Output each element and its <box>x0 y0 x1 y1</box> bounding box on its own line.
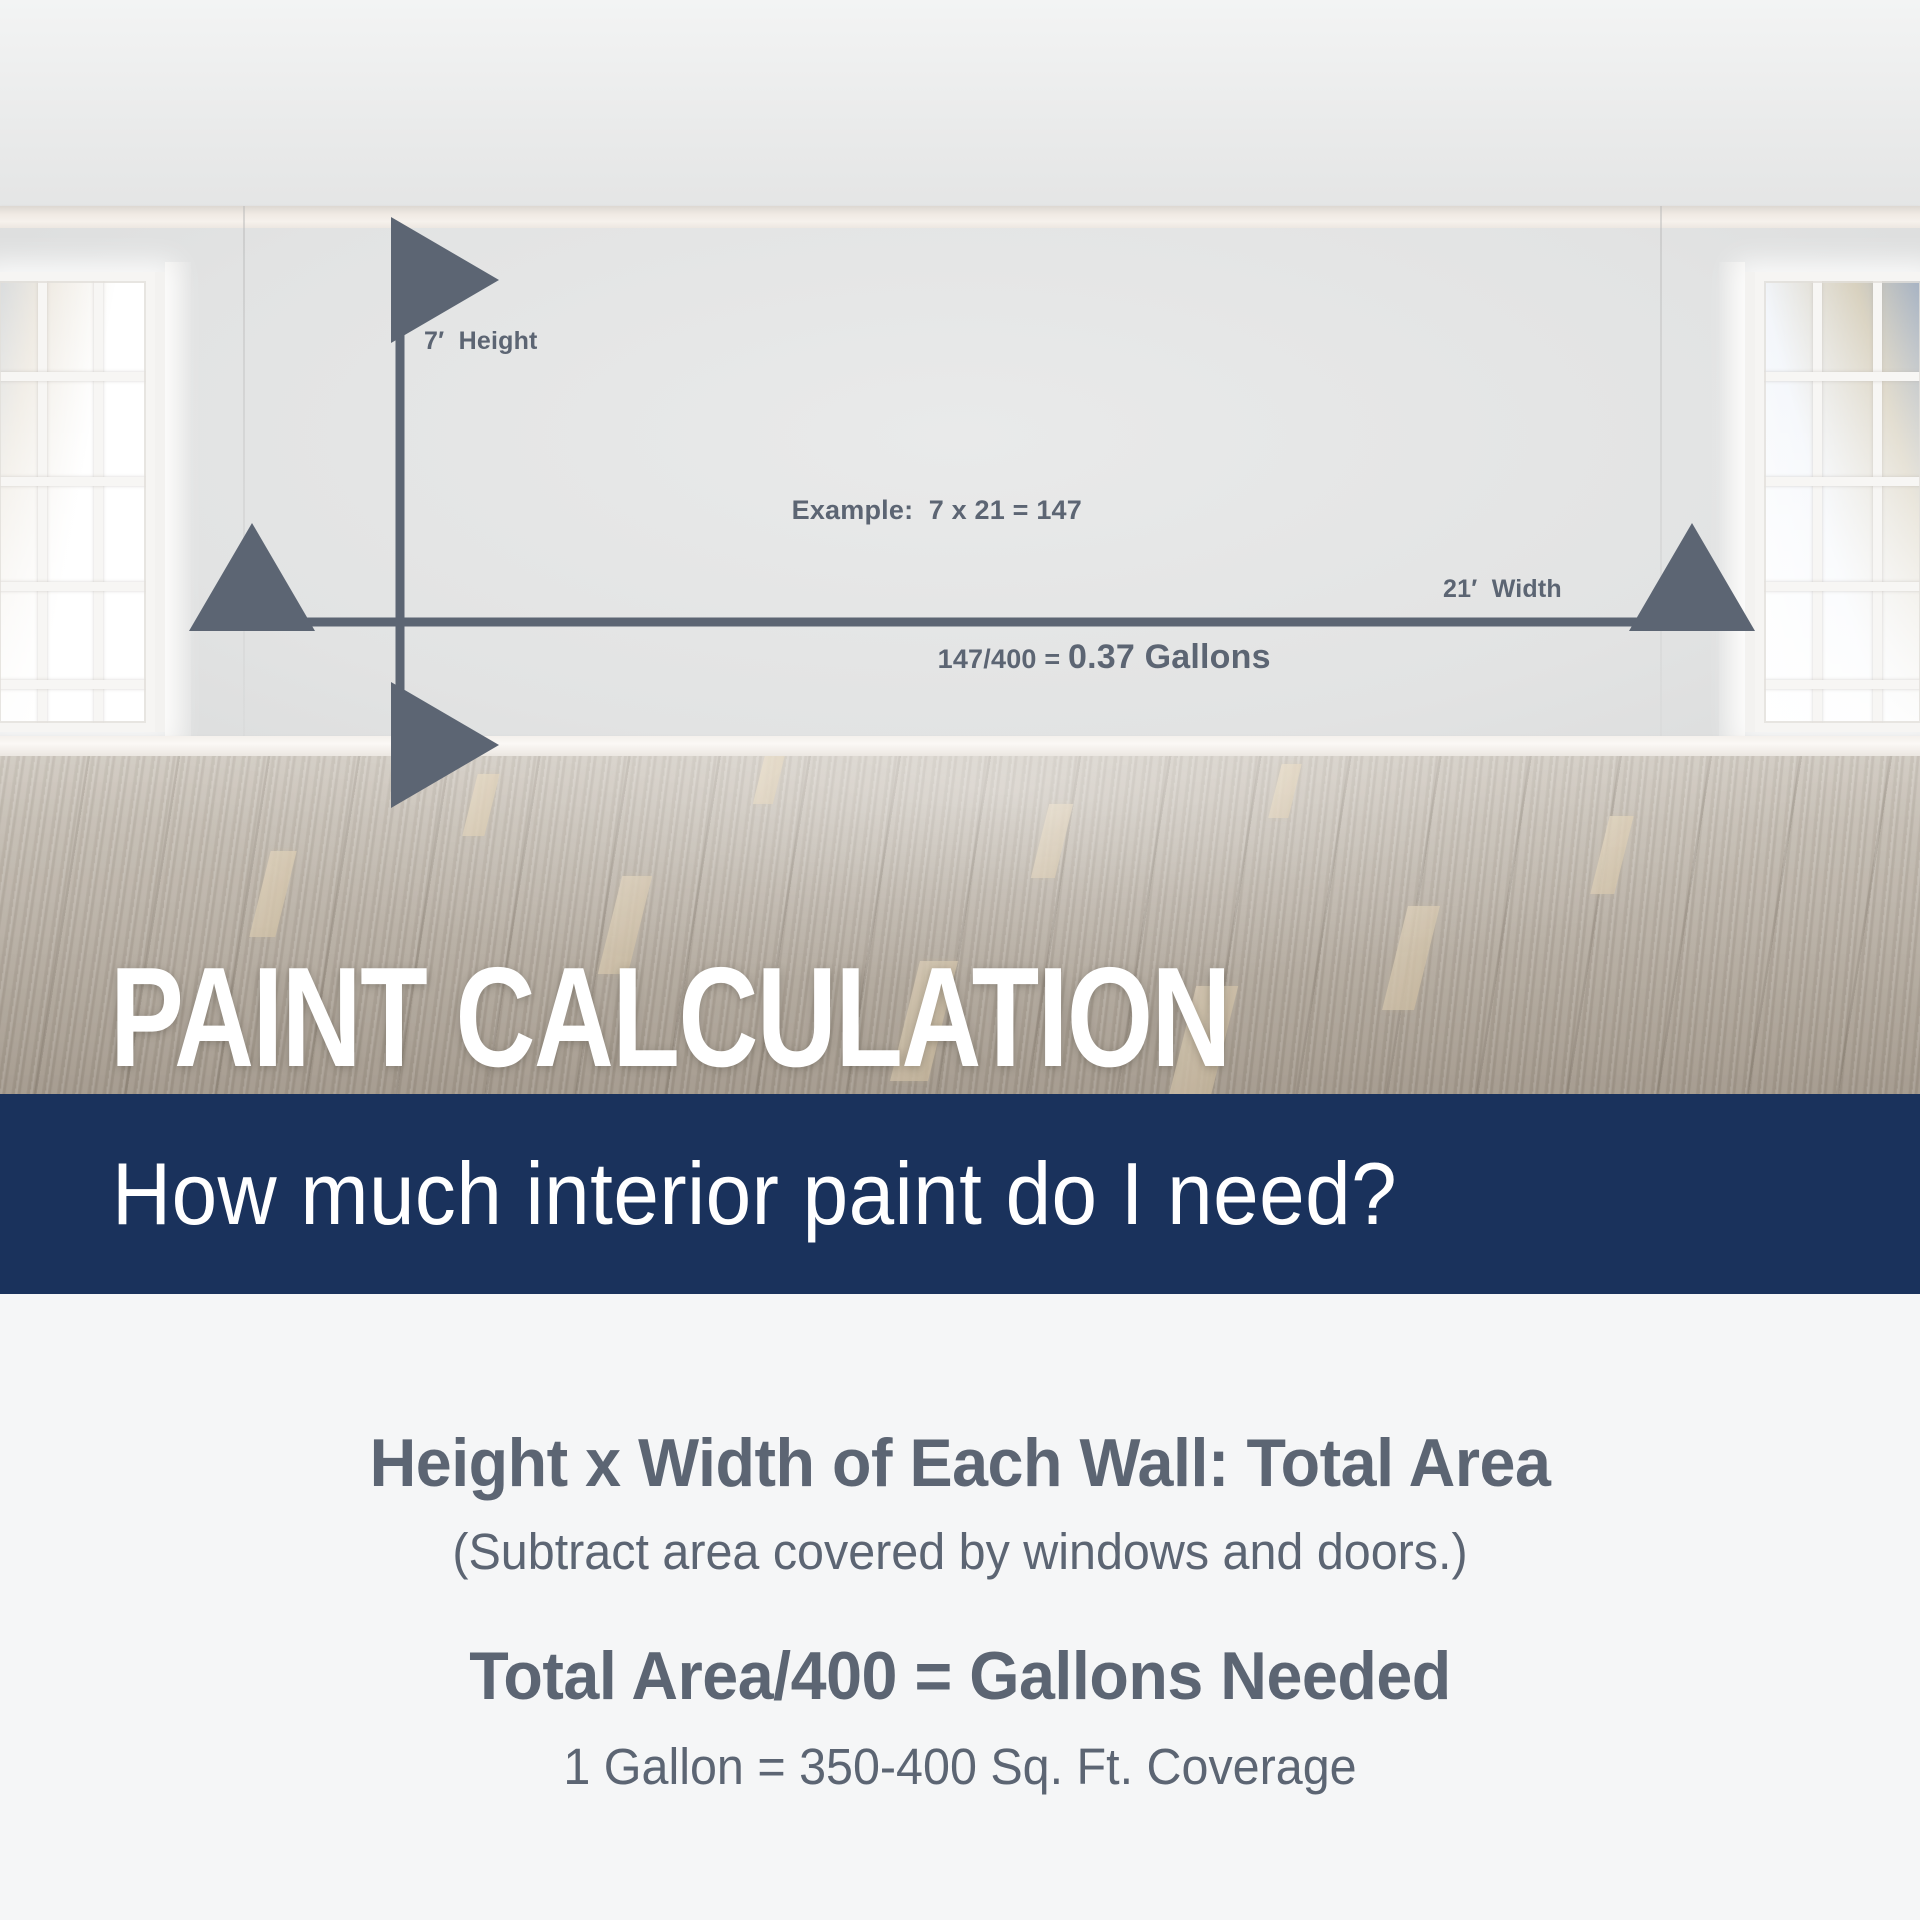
example-line-2: 147/400 = 0.37 Gallons <box>730 607 1271 708</box>
page-title: PAINT CALCULATION <box>110 958 1230 1077</box>
example-prefix: Example: <box>792 495 914 525</box>
example-calculation: Example: 7 x 21 = 147 147/400 = 0.37 Gal… <box>730 428 1271 744</box>
height-dimension-label: 7′ Height <box>424 327 538 356</box>
example-result: 0.37 Gallons <box>1068 638 1271 676</box>
question-banner: How much interior paint do I need? <box>0 1094 1920 1294</box>
example-line-1: Example: 7 x 21 = 147 <box>730 464 1271 557</box>
width-dimension-label: 21′ Width <box>1443 575 1562 604</box>
infographic-page: 7′ Height 21′ Width Example: 7 x 21 = 14… <box>0 0 1920 1920</box>
banner-question: How much interior paint do I need? <box>112 1143 1397 1245</box>
formula-line-3: Total Area/400 = Gallons Needed <box>48 1637 1872 1715</box>
formula-line-4: 1 Gallon = 350-400 Sq. Ft. Coverage <box>48 1737 1872 1796</box>
room-photo: 7′ Height 21′ Width Example: 7 x 21 = 14… <box>0 0 1920 1118</box>
formula-line-2: (Subtract area covered by windows and do… <box>48 1522 1872 1581</box>
formula-line-1: Height x Width of Each Wall: Total Area <box>48 1424 1872 1502</box>
example-math-2: 147/400 = <box>938 644 1061 674</box>
formula-section: Height x Width of Each Wall: Total Area … <box>0 1294 1920 1920</box>
example-math-1: 7 x 21 = 147 <box>929 495 1082 525</box>
